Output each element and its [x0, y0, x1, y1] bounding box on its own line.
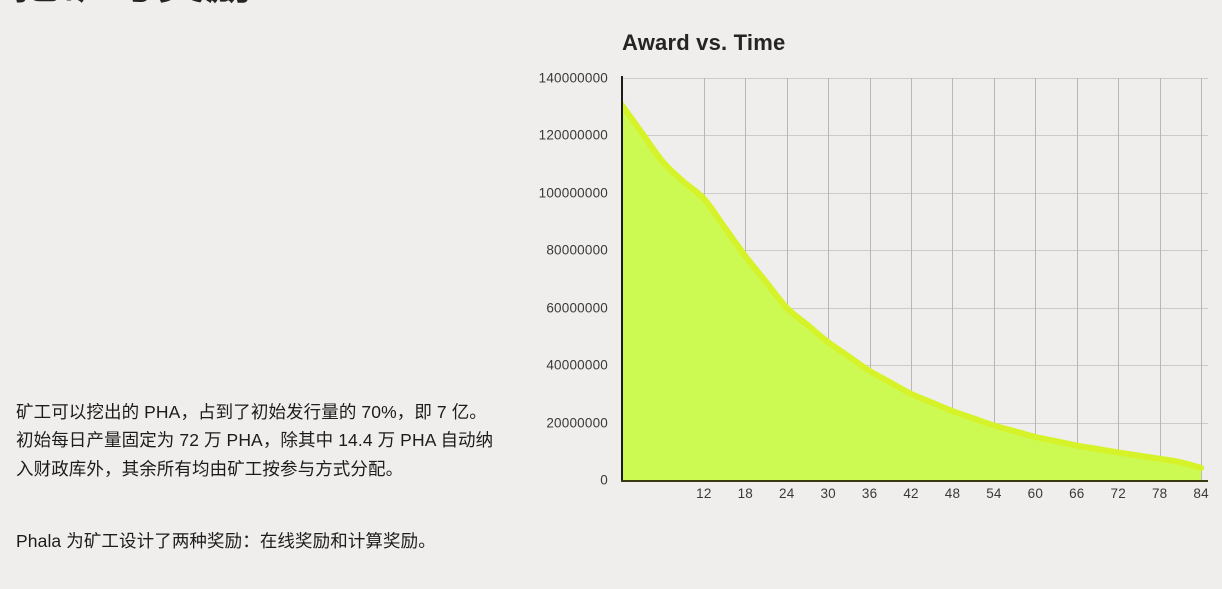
x-tick-label: 78: [1152, 486, 1167, 501]
y-tick-label: 100000000: [539, 185, 608, 200]
x-tick-label: 36: [862, 486, 877, 501]
plot-area: [621, 78, 1208, 480]
x-axis-tick-labels: 12182430364248546066727884: [621, 486, 1208, 512]
x-tick-label: 54: [986, 486, 1001, 501]
area-fill-path: [621, 104, 1201, 480]
x-tick-label: 12: [696, 486, 711, 501]
body-paragraph-3: Phala 为矿工设计了两种奖励：在线奖励和计算奖励。: [16, 527, 506, 555]
y-tick-label: 40000000: [546, 358, 608, 373]
x-tick-label: 66: [1069, 486, 1084, 501]
chart-title: Award vs. Time: [622, 30, 785, 56]
y-axis-tick-labels: 0200000004000000060000000800000001000000…: [520, 68, 616, 480]
x-tick-label: 18: [738, 486, 753, 501]
body-copy: 矿工可以挖出的 PHA，占到了初始发行量的 70%，即 7 亿。 初始每日产量固…: [16, 398, 506, 555]
y-tick-label: 60000000: [546, 300, 608, 315]
x-tick-label: 42: [903, 486, 918, 501]
y-tick-label: 80000000: [546, 243, 608, 258]
y-tick-label: 0: [600, 473, 608, 488]
x-tick-label: 30: [820, 486, 835, 501]
x-tick-label: 24: [779, 486, 794, 501]
body-paragraph-2: 初始每日产量固定为 72 万 PHA，除其中 14.4 万 PHA 自动纳入财政…: [16, 426, 506, 483]
x-tick-label: 60: [1028, 486, 1043, 501]
x-tick-label: 48: [945, 486, 960, 501]
award-area-series: [621, 78, 1208, 480]
y-tick-label: 120000000: [539, 128, 608, 143]
slide-canvas: 挖矿与奖励 矿工可以挖出的 PHA，占到了初始发行量的 70%，即 7 亿。 初…: [0, 0, 1222, 589]
y-axis-line: [621, 76, 623, 480]
plot-wrapper: 0200000004000000060000000800000001000000…: [520, 68, 1222, 508]
x-tick-label: 84: [1193, 486, 1208, 501]
body-paragraph-1: 矿工可以挖出的 PHA，占到了初始发行量的 70%，即 7 亿。: [16, 398, 506, 426]
chart-panel: Award vs. Time 0200000004000000060000000…: [520, 10, 1222, 530]
x-tick-label: 72: [1111, 486, 1126, 501]
y-tick-label: 20000000: [546, 415, 608, 430]
y-tick-label: 140000000: [539, 71, 608, 86]
deck-title: 挖矿与奖励: [14, 0, 254, 6]
x-axis-line: [621, 480, 1208, 482]
